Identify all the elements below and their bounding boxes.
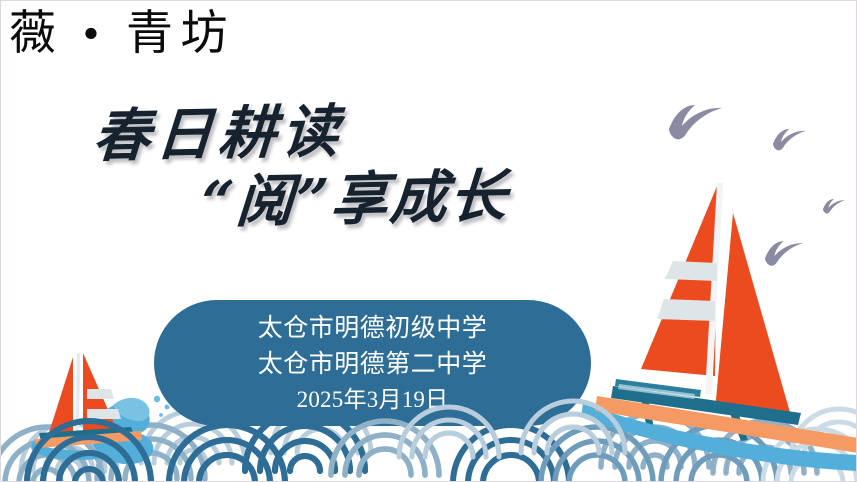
- info-pill: 太仓市明德初级中学 太仓市明德第二中学 2025年3月19日: [154, 300, 591, 426]
- info-school-line-2: 太仓市明德第二中学: [258, 347, 488, 383]
- seagull-icon: [823, 199, 845, 213]
- brand-title: 薇 • 青坊: [9, 7, 235, 61]
- seagull-icon: [669, 105, 722, 139]
- seagull-icon: [765, 241, 803, 266]
- seagull-icon: [773, 129, 806, 150]
- slide-canvas: 薇 • 青坊 春日耕读 “阅”享成长 太仓市明德初级中学 太仓市明德第二中学 2…: [0, 0, 857, 482]
- info-school-line-1: 太仓市明德初级中学: [258, 311, 488, 347]
- info-date: 2025年3月19日: [297, 383, 449, 416]
